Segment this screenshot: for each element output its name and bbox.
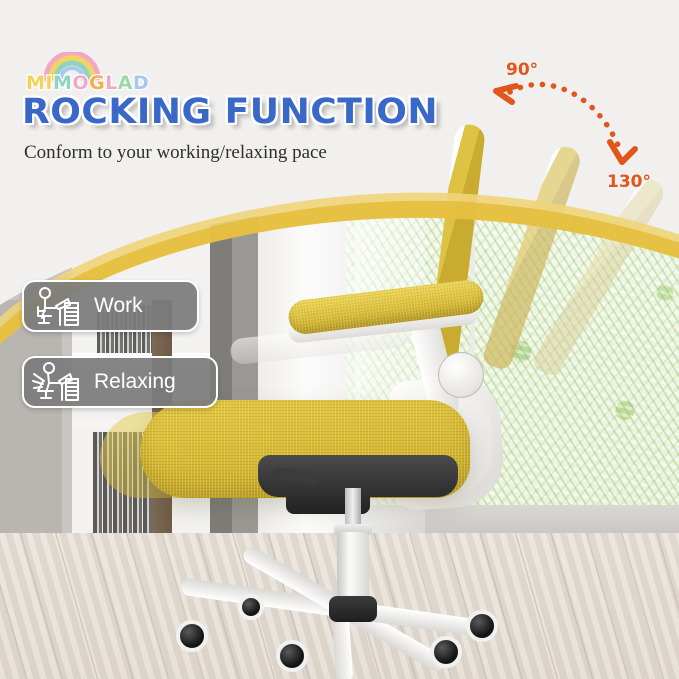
person-at-desk-reclining-icon: [32, 361, 84, 403]
caster: [466, 610, 498, 642]
badge-work[interactable]: Work: [22, 280, 199, 332]
badge-label: Relaxing: [94, 370, 176, 394]
brand-logo: MIMOGLAD: [24, 52, 184, 96]
arrow-left-icon: [496, 86, 516, 102]
logo-wordmark: MIMOGLAD: [26, 72, 149, 94]
angle-label-start: 90°: [506, 60, 538, 80]
page-title: ROCKING FUNCTION: [22, 92, 438, 132]
page-subtitle: Conform to your working/relaxing pace: [24, 142, 327, 164]
armrest-pivot: [438, 352, 484, 398]
gas-cylinder: [337, 532, 369, 602]
logo-letter: A: [118, 72, 133, 94]
badge-relaxing[interactable]: Relaxing: [22, 356, 218, 408]
product-infographic: MIMOGLAD ROCKING FUNCTION Conform to you…: [0, 0, 679, 679]
caster: [176, 620, 208, 652]
logo-letter: L: [105, 72, 118, 94]
arrow-down-right-icon: [610, 142, 635, 162]
logo-letter: O: [72, 72, 89, 94]
angle-label-end: 130°: [607, 172, 651, 192]
logo-letter: I: [45, 72, 53, 94]
caster: [238, 594, 264, 620]
caster: [276, 640, 308, 672]
logo-letter: D: [133, 72, 149, 94]
logo-letter: M: [53, 72, 72, 94]
logo-letter: M: [26, 72, 45, 94]
caster: [430, 636, 462, 668]
person-at-desk-upright-icon: [32, 285, 84, 327]
logo-letter: G: [89, 72, 105, 94]
gas-cylinder-rod: [345, 488, 361, 528]
badge-label: Work: [94, 294, 143, 318]
base-hub: [329, 596, 377, 622]
